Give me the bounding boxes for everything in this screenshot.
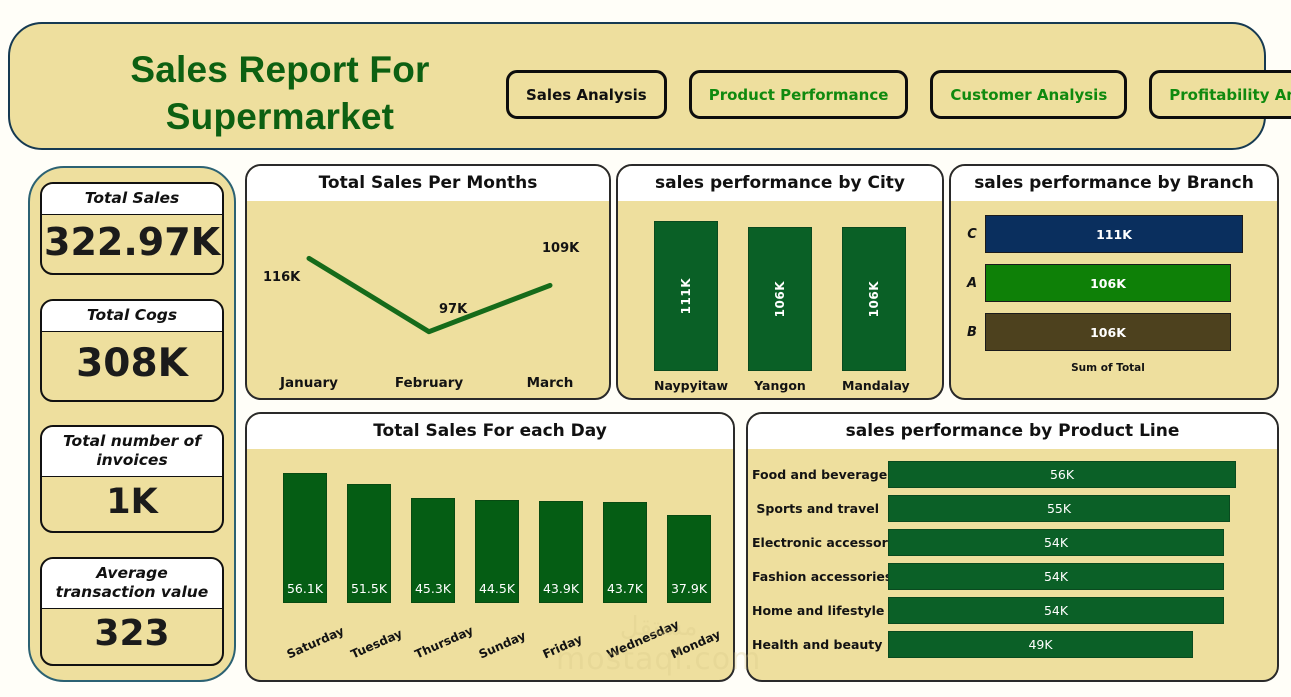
tab-label: Customer Analysis: [950, 86, 1107, 104]
product-line-row: Electronic accessories54K: [752, 529, 1263, 556]
tab-label: Product Performance: [709, 86, 889, 104]
bar-value-label: 45.3K: [415, 581, 451, 596]
bar[interactable]: 111K: [985, 215, 1243, 253]
chart-card-sales-by-city[interactable]: sales performance by City 111K 106K 106K: [616, 164, 944, 400]
bar[interactable]: 106K: [985, 313, 1231, 351]
bar-group: 106K: [842, 227, 906, 371]
bar-value-label: 37.9K: [671, 581, 707, 596]
chart-caption: Sum of Total: [959, 362, 1257, 374]
bar[interactable]: 49K: [888, 631, 1193, 658]
product-chart-plot: Food and beverages56KSports and travel55…: [748, 449, 1277, 681]
header-banner: Sales Report For Supermarket Sales Analy…: [8, 22, 1266, 150]
axis-tick-label: Food and beverages: [752, 467, 888, 482]
product-line-row: Health and beauty49K: [752, 631, 1263, 658]
kpi-value: 1K: [42, 477, 222, 531]
tab-label: Sales Analysis: [526, 86, 647, 104]
kpi-value: 322.97K: [42, 215, 222, 273]
bar-value-label: 56.1K: [287, 581, 323, 596]
product-line-row: Food and beverages56K: [752, 461, 1263, 488]
branch-row: C 111K: [959, 215, 1257, 253]
axis-tick-label: C: [959, 227, 985, 242]
line-chart-plot: 116K 97K 109K January February March: [247, 201, 609, 399]
bar[interactable]: 43.9K: [539, 501, 583, 603]
bar[interactable]: 54K: [888, 563, 1224, 590]
kpi-title: Total number of invoices: [42, 427, 222, 477]
kpi-title: Total Cogs: [42, 301, 222, 332]
tab-bar: Sales Analysis Product Performance Custo…: [506, 70, 1291, 119]
bar[interactable]: 106K: [748, 227, 812, 371]
product-line-row: Fashion accessories54K: [752, 563, 1263, 590]
axis-tick-label: Health and beauty: [752, 637, 888, 652]
kpi-sidebar: Total Sales 322.97K Total Cogs 308K Tota…: [28, 166, 236, 682]
line-data-label: 109K: [542, 241, 579, 256]
bar[interactable]: 43.7K: [603, 502, 647, 603]
chart-title: sales performance by Branch: [951, 166, 1277, 201]
chart-card-total-sales-per-months[interactable]: Total Sales Per Months 116K 97K 109K Jan…: [245, 164, 611, 400]
bar-group: 111K: [654, 221, 718, 371]
kpi-value: 323: [42, 609, 222, 664]
axis-tick-label: January: [254, 375, 364, 391]
dashboard-page: Sales Report For Supermarket Sales Analy…: [0, 0, 1291, 697]
axis-tick-label: March: [495, 375, 605, 391]
axis-tick-label: Sunday: [475, 627, 523, 661]
bar[interactable]: 55K: [888, 495, 1230, 522]
day-axis-labels: SaturdayTuesdayThursdaySundayFridayWedne…: [283, 645, 711, 663]
bar-value-label: 106K: [867, 281, 881, 317]
chart-card-sales-by-branch[interactable]: sales performance by Branch C 111K A 106…: [949, 164, 1279, 400]
bar[interactable]: 111K: [654, 221, 718, 371]
axis-tick-label: Saturday: [283, 627, 331, 661]
city-axis-labels: Naypyitaw Yangon Mandalay: [618, 378, 942, 393]
axis-tick-label: A: [959, 276, 985, 291]
axis-tick-label: February: [374, 375, 484, 391]
axis-tick-label: Thursday: [411, 627, 459, 661]
tab-customer-analysis[interactable]: Customer Analysis: [930, 70, 1127, 119]
axis-tick-label: B: [959, 325, 985, 340]
city-bars: 111K 106K 106K: [618, 209, 942, 371]
bar[interactable]: 54K: [888, 597, 1224, 624]
axis-tick-label: Electronic accessories: [752, 535, 888, 550]
line-data-label: 116K: [263, 270, 300, 285]
bar-value-label: 106K: [773, 281, 787, 317]
bar-value-label: 43.9K: [543, 581, 579, 596]
product-line-row: Home and lifestyle54K: [752, 597, 1263, 624]
axis-tick-label: Mandalay: [842, 378, 906, 393]
line-chart-svg: [247, 201, 609, 399]
bar-value-label: 44.5K: [479, 581, 515, 596]
bar-value-label: 51.5K: [351, 581, 387, 596]
city-chart-plot: 111K 106K 106K Naypyitaw Yangon Mandal: [618, 201, 942, 399]
tab-label: Profitability Analysis: [1169, 86, 1291, 104]
kpi-value: 308K: [42, 332, 222, 400]
chart-title: Total Sales Per Months: [247, 166, 609, 201]
line-data-label: 97K: [439, 302, 467, 317]
bar-value-label: 106K: [1090, 325, 1126, 340]
branch-row: B 106K: [959, 313, 1257, 351]
tab-sales-analysis[interactable]: Sales Analysis: [506, 70, 667, 119]
chart-title: Total Sales For each Day: [247, 414, 733, 449]
axis-tick-label: Fashion accessories: [752, 569, 888, 584]
tab-product-performance[interactable]: Product Performance: [689, 70, 909, 119]
axis-tick-label: Yangon: [748, 378, 812, 393]
branch-row: A 106K: [959, 264, 1257, 302]
axis-tick-label: Tuesday: [347, 627, 395, 661]
axis-tick-label: Home and lifestyle: [752, 603, 888, 618]
axis-tick-label: Wednesday: [603, 627, 651, 661]
bar[interactable]: 44.5K: [475, 500, 519, 603]
axis-tick-label: Friday: [539, 627, 587, 661]
kpi-title: Total Sales: [42, 184, 222, 215]
bar[interactable]: 106K: [842, 227, 906, 371]
bar[interactable]: 51.5K: [347, 484, 391, 603]
chart-title: sales performance by Product Line: [748, 414, 1277, 449]
bar-group: 106K: [748, 227, 812, 371]
tab-profitability-analysis[interactable]: Profitability Analysis: [1149, 70, 1291, 119]
chart-card-total-sales-each-day[interactable]: Total Sales For each Day 56.1K51.5K45.3K…: [245, 412, 735, 682]
bar[interactable]: 54K: [888, 529, 1224, 556]
bar[interactable]: 56.1K: [283, 473, 327, 603]
axis-tick-label: Naypyitaw: [654, 378, 718, 393]
bar[interactable]: 37.9K: [667, 515, 711, 603]
bar-value-label: 43.7K: [607, 581, 643, 596]
day-chart-plot: 56.1K51.5K45.3K44.5K43.9K43.7K37.9K Satu…: [247, 449, 733, 681]
axis-tick-label: Sports and travel: [752, 501, 888, 516]
chart-card-sales-by-product-line[interactable]: sales performance by Product Line Food a…: [746, 412, 1279, 682]
product-line-row: Sports and travel55K: [752, 495, 1263, 522]
kpi-card-total-cogs[interactable]: Total Cogs 308K: [40, 299, 224, 402]
bar[interactable]: 56K: [888, 461, 1236, 488]
day-bars: 56.1K51.5K45.3K44.5K43.9K43.7K37.9K: [283, 469, 711, 603]
bar[interactable]: 45.3K: [411, 498, 455, 603]
kpi-title: Average transaction value: [42, 559, 222, 609]
page-title: Sales Report For Supermarket: [70, 46, 490, 140]
kpi-card-average-transaction-value[interactable]: Average transaction value 323: [40, 557, 224, 666]
kpi-card-total-sales[interactable]: Total Sales 322.97K: [40, 182, 224, 275]
bar[interactable]: 106K: [985, 264, 1231, 302]
chart-title: sales performance by City: [618, 166, 942, 201]
branch-chart-plot: C 111K A 106K B 106K Sum of Total: [951, 201, 1277, 399]
bar-value-label: 111K: [1096, 227, 1132, 242]
bar-value-label: 111K: [679, 278, 693, 314]
kpi-card-total-invoices[interactable]: Total number of invoices 1K: [40, 425, 224, 533]
bar-value-label: 106K: [1090, 276, 1126, 291]
